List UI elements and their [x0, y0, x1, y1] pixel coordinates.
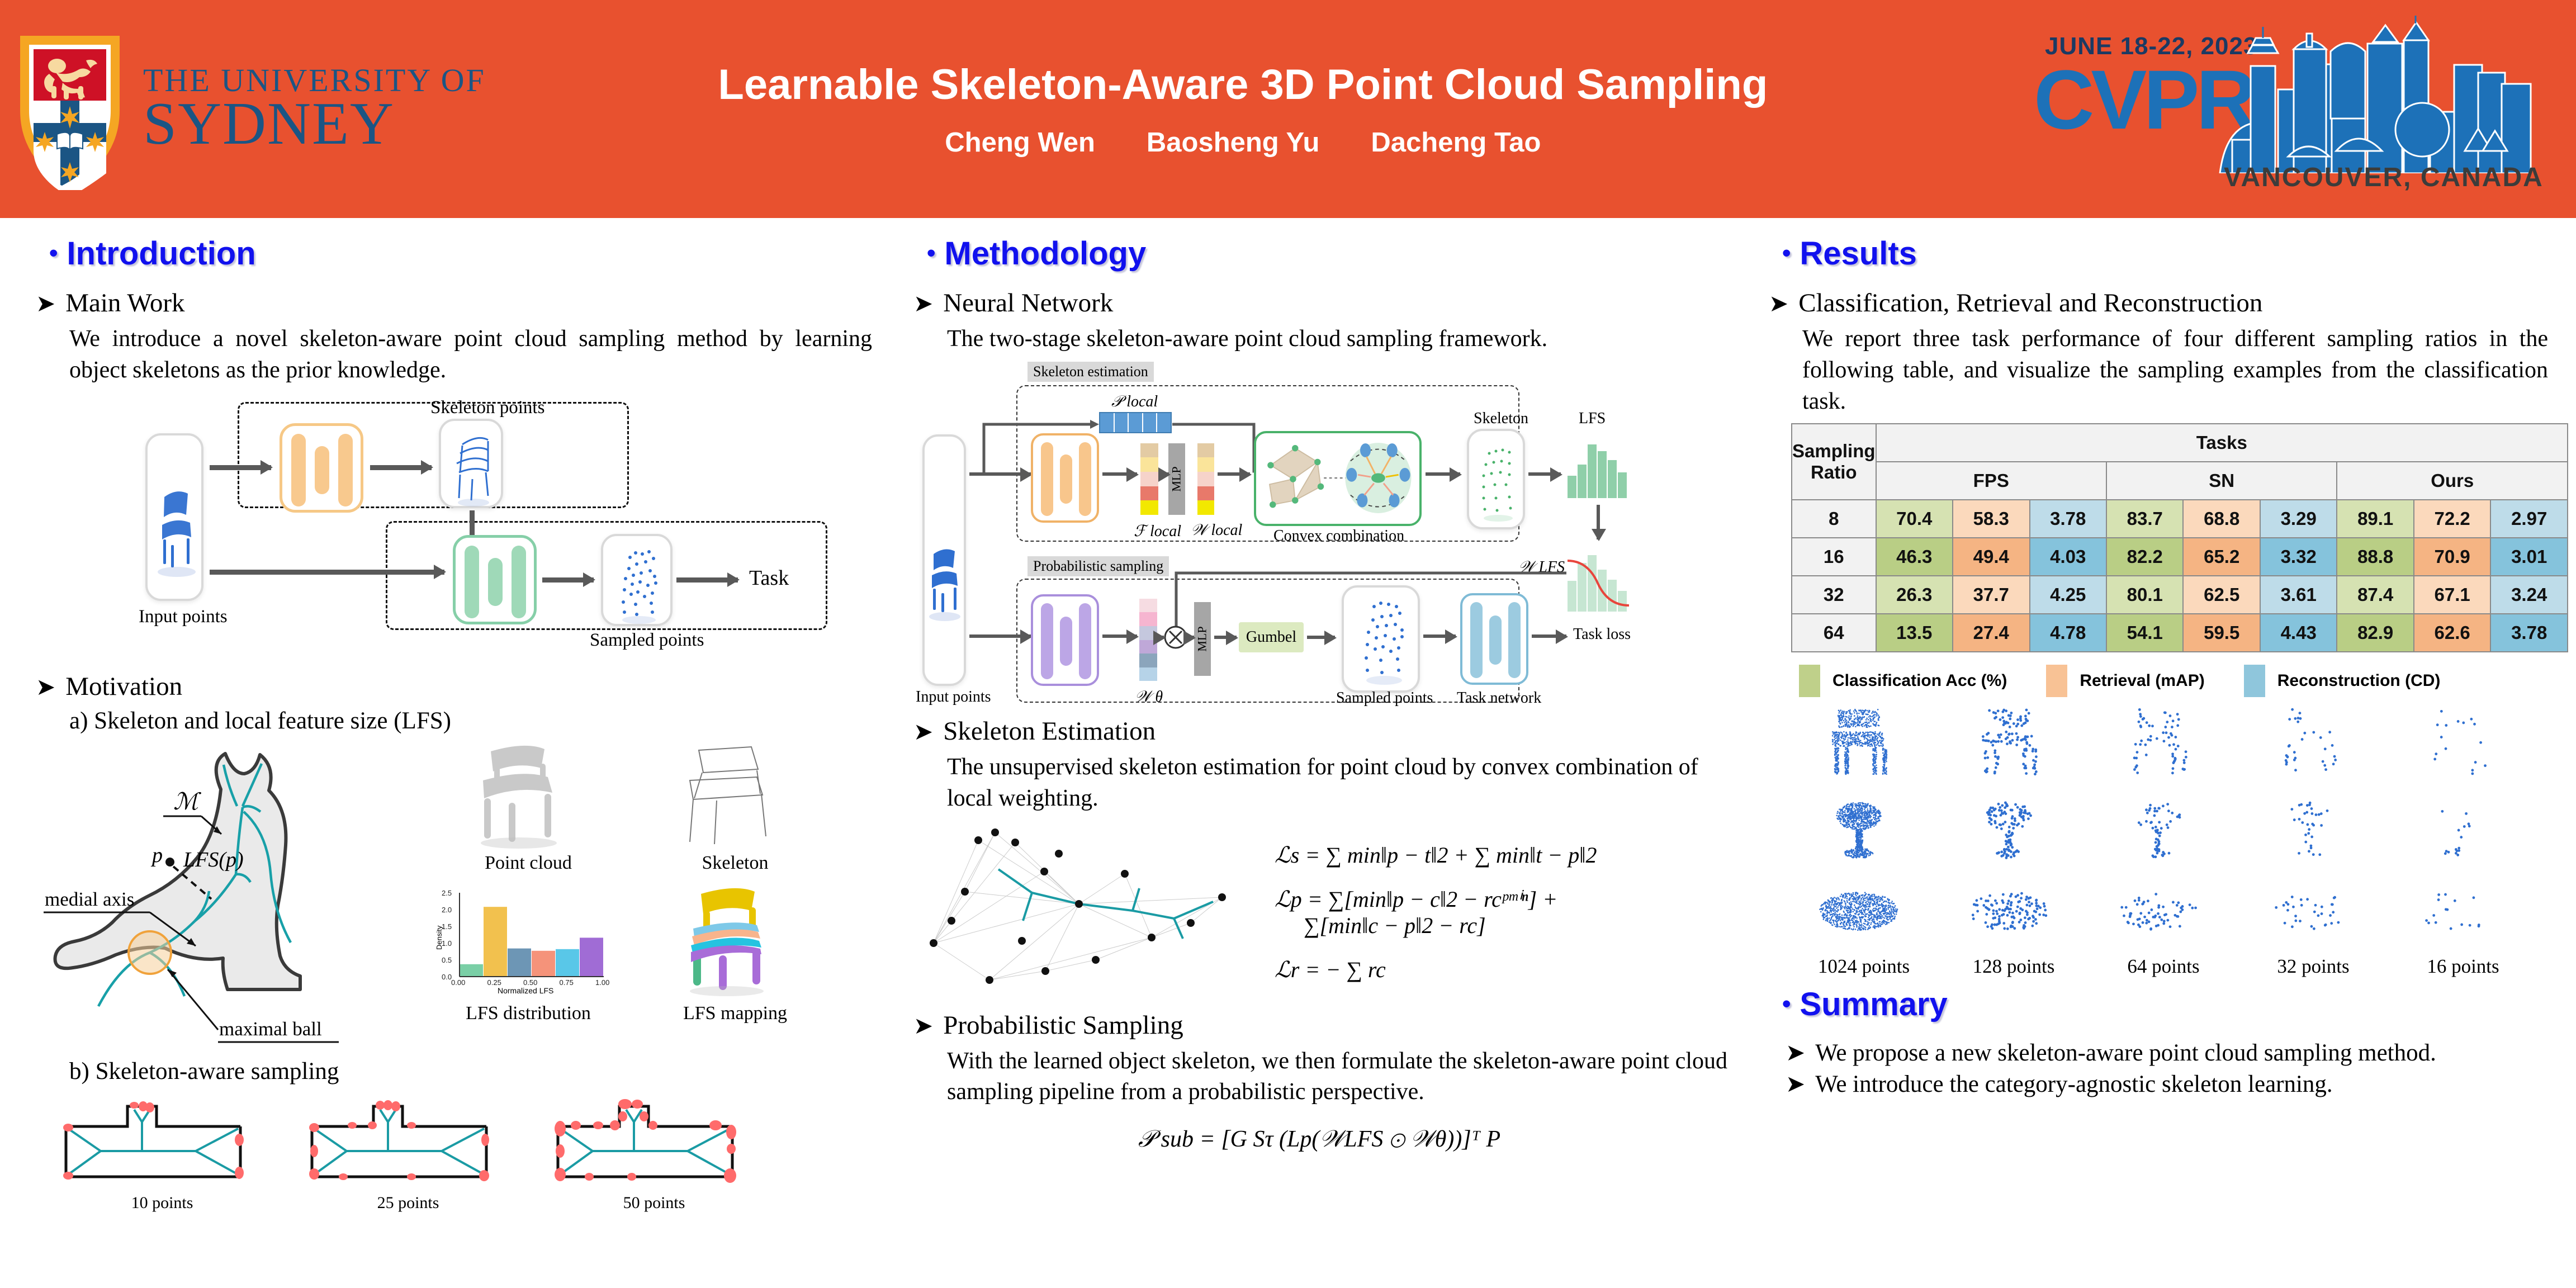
- point: [1849, 915, 1850, 916]
- point: [1862, 709, 1863, 711]
- point: [1881, 734, 1883, 736]
- point: [1976, 910, 1979, 912]
- point: [2148, 724, 2151, 727]
- point: [1881, 899, 1883, 901]
- lfs-mapping-caption: LFS mapping: [632, 1003, 839, 1024]
- point: [1854, 909, 1855, 911]
- point: [2329, 914, 2332, 917]
- point: [2007, 839, 2010, 841]
- point: [1844, 852, 1846, 854]
- point: [1883, 901, 1884, 903]
- point: [1835, 749, 1836, 751]
- point: [1850, 901, 1852, 903]
- point: [1875, 742, 1877, 744]
- bullet-dot-icon: •: [49, 246, 58, 261]
- table-cell-sn: 3.32: [2260, 538, 2337, 576]
- point: [1887, 898, 1888, 900]
- point: [2034, 918, 2037, 921]
- point: [2134, 765, 2137, 768]
- point: [2440, 736, 2443, 738]
- point: [1831, 913, 1833, 915]
- arrow-bullet-icon: ➤: [36, 290, 55, 318]
- point: [1868, 911, 1870, 913]
- point: [1857, 808, 1859, 809]
- summary-bullet-1: ➤ We propose a new skeleton-aware point …: [1786, 1039, 2548, 1067]
- point: [1894, 906, 1896, 908]
- point: [1869, 896, 1871, 898]
- point: [1873, 712, 1875, 713]
- bullet-dot-icon: •: [1782, 997, 1791, 1011]
- point: [1866, 713, 1868, 715]
- point: [1859, 809, 1860, 811]
- point: [1864, 899, 1866, 901]
- point: [1836, 911, 1838, 912]
- point: [2010, 901, 2012, 904]
- point: [1852, 853, 1854, 855]
- point: [1873, 917, 1875, 918]
- point: [1839, 916, 1841, 917]
- point: [1865, 902, 1867, 903]
- point: [1894, 915, 1896, 917]
- point: [1986, 925, 1989, 928]
- point: [1984, 752, 1987, 755]
- point: [1850, 916, 1851, 917]
- point: [1858, 813, 1860, 815]
- point: [1856, 817, 1858, 818]
- point: [2006, 927, 2009, 930]
- point: [1858, 826, 1859, 828]
- point: [1855, 917, 1857, 918]
- point: [1854, 723, 1856, 725]
- point: [2015, 732, 2018, 735]
- point: [2337, 921, 2340, 924]
- point: [1884, 764, 1886, 765]
- point: [2023, 748, 2026, 751]
- point: [1823, 918, 1825, 920]
- point: [1856, 828, 1858, 830]
- point: [1858, 804, 1860, 806]
- input-chair-point-cloud: [148, 435, 203, 603]
- point: [2151, 854, 2154, 857]
- point: [1840, 718, 1841, 719]
- point: [1835, 902, 1837, 904]
- point: [2002, 822, 2005, 825]
- point: [1858, 851, 1860, 853]
- point: [1826, 906, 1828, 907]
- point: [1877, 743, 1878, 745]
- point: [1825, 908, 1826, 910]
- point: [1835, 920, 1836, 921]
- point: [2135, 756, 2138, 759]
- skeleton-graph-illustration: [911, 820, 1269, 1005]
- point: [1856, 902, 1858, 904]
- point: [2158, 834, 2161, 837]
- point: [1867, 722, 1868, 724]
- arrow-input-to-skeleton-net: [210, 465, 271, 470]
- point: [2020, 738, 2023, 741]
- svg-text:0.0: 0.0: [442, 973, 452, 981]
- point: [1850, 922, 1851, 924]
- column-introduction: • Introduction ➤ Main Work We introduce …: [0, 218, 894, 1288]
- point: [2034, 748, 2037, 751]
- w-theta-label: 𝒲 θ: [1135, 688, 1163, 706]
- point: [1863, 909, 1864, 911]
- point: [2004, 850, 2006, 853]
- point: [1987, 732, 1990, 735]
- point: [1890, 920, 1892, 922]
- point: [1990, 822, 1993, 825]
- point: [1845, 903, 1846, 905]
- point: [2149, 807, 2152, 809]
- point: [1982, 735, 1985, 738]
- point: [1859, 850, 1860, 852]
- point: [1875, 813, 1877, 815]
- point: [1992, 739, 1995, 742]
- point: [1985, 913, 1988, 916]
- point: [1870, 725, 1872, 727]
- table-cell-fps: 13.5: [1876, 614, 1953, 652]
- point: [1853, 922, 1855, 924]
- point: [2023, 811, 2025, 814]
- point: [2139, 725, 2142, 728]
- point: [2176, 713, 2179, 716]
- point: [1831, 902, 1833, 903]
- point: [2000, 813, 2002, 816]
- point: [1859, 741, 1861, 743]
- point: [1848, 743, 1850, 745]
- point: [1845, 928, 1846, 930]
- point: [1847, 893, 1849, 894]
- point: [1872, 748, 1874, 750]
- point: [1849, 812, 1851, 814]
- point: [1873, 765, 1874, 766]
- point: [1845, 904, 1846, 906]
- point: [1891, 914, 1892, 916]
- table-method-fps: FPS: [1876, 462, 2106, 500]
- point: [1877, 737, 1879, 738]
- point: [2471, 769, 2474, 771]
- point: [1831, 899, 1832, 901]
- point: [1831, 907, 1832, 909]
- point: [1878, 733, 1880, 735]
- point: [1889, 918, 1891, 920]
- point: [1859, 745, 1861, 746]
- point: [2033, 910, 2036, 912]
- point: [1844, 913, 1846, 915]
- point: [2028, 917, 2031, 920]
- main-work-text: We introduce a novel skeleton-aware poin…: [69, 324, 872, 386]
- point: [2173, 759, 2176, 762]
- table-cell-sn: 65.2: [2183, 538, 2260, 576]
- point: [1985, 899, 1987, 902]
- point: [2017, 901, 2020, 903]
- point: [1862, 726, 1863, 727]
- point: [1975, 899, 1978, 902]
- point: [1855, 853, 1857, 854]
- results-heading-label: Results: [1800, 235, 1917, 272]
- point: [1878, 812, 1880, 813]
- point: [1839, 732, 1840, 733]
- lfs-histogram-icon: [1565, 438, 1632, 499]
- point: [1851, 812, 1853, 814]
- point: [1860, 834, 1862, 836]
- point: [1864, 926, 1865, 927]
- point: [1874, 897, 1876, 898]
- point: [1860, 909, 1862, 911]
- point: [1887, 919, 1889, 921]
- point: [2145, 921, 2148, 924]
- point: [1853, 924, 1854, 926]
- point: [1864, 710, 1865, 712]
- point: [1881, 742, 1882, 744]
- point: [1840, 745, 1841, 747]
- point: [1873, 736, 1874, 738]
- point: [1861, 805, 1863, 807]
- point: [1846, 811, 1848, 813]
- arrow-to-sampler-encoder: [969, 634, 1031, 638]
- point: [1845, 713, 1847, 714]
- point: [1834, 904, 1835, 906]
- point: [2035, 899, 2038, 902]
- point: [1857, 841, 1858, 843]
- point: [1857, 805, 1858, 807]
- point: [1868, 740, 1870, 741]
- point: [1844, 741, 1846, 743]
- point: [1863, 736, 1864, 737]
- point: [1855, 899, 1857, 901]
- point: [2162, 731, 2165, 734]
- point: [1868, 724, 1869, 726]
- point: [1988, 709, 1991, 712]
- point: [1835, 751, 1836, 753]
- table-header-row-2: FPS SN Ours: [1792, 462, 2568, 500]
- point: [1843, 911, 1845, 913]
- cat-lfs-p-label: LFS(p): [183, 848, 244, 872]
- point: [1893, 902, 1895, 904]
- chair-dense-1024: [1789, 700, 1929, 784]
- point: [1849, 719, 1850, 721]
- point: [2153, 814, 2156, 817]
- point: [1862, 908, 1863, 910]
- point: [1845, 807, 1847, 809]
- point: [1830, 913, 1831, 915]
- author-1: Cheng Wen: [945, 127, 1095, 158]
- point: [1841, 917, 1843, 919]
- point: [1864, 897, 1866, 899]
- point: [1873, 821, 1874, 823]
- point: [2016, 738, 2019, 741]
- point: [1849, 927, 1851, 929]
- point: [1846, 724, 1848, 726]
- point: [1872, 773, 1874, 775]
- point: [1886, 908, 1887, 910]
- table-cell-ratio: 32: [1792, 576, 1876, 614]
- point: [1876, 906, 1877, 907]
- point: [1861, 911, 1863, 913]
- point: [2008, 826, 2011, 828]
- point: [1837, 750, 1839, 752]
- point: [1886, 754, 1888, 756]
- point: [1867, 733, 1869, 735]
- table-cell-fps: 4.25: [2030, 576, 2106, 614]
- arrow-input-to-sampler: [210, 570, 444, 575]
- point: [2007, 830, 2010, 833]
- point: [1862, 745, 1863, 747]
- point: [1869, 919, 1871, 921]
- point: [2177, 901, 2180, 904]
- point: [1838, 770, 1840, 772]
- point: [1871, 712, 1873, 714]
- point: [2149, 738, 2152, 741]
- point: [1859, 722, 1860, 723]
- point: [2140, 739, 2143, 742]
- point: [2043, 905, 2046, 907]
- point: [2166, 803, 2169, 806]
- point: [1871, 740, 1872, 742]
- point: [1889, 916, 1891, 917]
- point: [1859, 929, 1861, 931]
- point: [1857, 850, 1859, 851]
- point: [2318, 853, 2321, 856]
- task-network-box: [1460, 593, 1528, 685]
- point: [2024, 925, 2026, 928]
- point: [2162, 804, 2165, 807]
- point: [1888, 905, 1890, 906]
- point: [1835, 735, 1836, 736]
- point: [1864, 735, 1865, 736]
- point: [1846, 910, 1848, 912]
- cvpr-logo: JUNE 18-22, 2023 CVPR: [2000, 0, 2570, 218]
- point: [1855, 848, 1857, 850]
- point: [1865, 908, 1867, 910]
- legend-label-classification: Classification Acc (%): [1832, 671, 2007, 690]
- point: [1851, 928, 1853, 930]
- point: [1856, 917, 1858, 919]
- point: [1848, 850, 1849, 852]
- point: [2313, 910, 2316, 913]
- cat-manifold-label: ℳ: [173, 789, 202, 815]
- lamp-dense-1024: [1789, 787, 1929, 868]
- hist-bar: [508, 948, 531, 976]
- point: [1854, 811, 1856, 812]
- point: [1990, 925, 1993, 927]
- point: [2002, 901, 2005, 904]
- point: [1867, 913, 1868, 915]
- point: [2149, 821, 2152, 824]
- svg-text:0.25: 0.25: [487, 978, 501, 987]
- point: [1874, 756, 1876, 758]
- point: [1838, 712, 1840, 714]
- point: [1863, 855, 1865, 856]
- point: [1868, 719, 1869, 721]
- point: [1843, 745, 1844, 747]
- point: [1848, 757, 1849, 759]
- point: [1836, 918, 1838, 920]
- point: [1868, 927, 1869, 929]
- point: [2324, 747, 2327, 750]
- point: [1872, 893, 1873, 895]
- point: [1869, 744, 1871, 745]
- point: [1869, 910, 1871, 911]
- point: [2177, 745, 2180, 747]
- point: [2044, 914, 2047, 917]
- point: [1834, 924, 1835, 925]
- legend-label-reconstruction: Reconstruction (CD): [2277, 671, 2441, 690]
- point: [1851, 919, 1853, 921]
- point: [1865, 735, 1867, 736]
- point: [1853, 813, 1855, 815]
- point: [2011, 911, 2014, 914]
- point: [1843, 924, 1844, 925]
- point: [1883, 913, 1885, 915]
- point: [1861, 848, 1863, 850]
- point: [1873, 918, 1874, 920]
- point: [2005, 847, 2008, 850]
- point: [2315, 813, 2318, 816]
- point: [1834, 909, 1836, 911]
- p-local-label: 𝒫 local: [1111, 393, 1158, 411]
- point: [1874, 765, 1876, 767]
- point: [1895, 908, 1897, 910]
- point: [1838, 920, 1839, 921]
- point: [1858, 717, 1859, 719]
- point: [1856, 851, 1858, 853]
- point: [1859, 856, 1860, 858]
- point: [2016, 894, 2019, 897]
- point: [2025, 741, 2028, 744]
- point: [1833, 907, 1835, 908]
- point: [2304, 840, 2307, 843]
- point: [2024, 755, 2026, 757]
- point: [1873, 900, 1875, 902]
- point: [1851, 817, 1853, 819]
- convex-combination-box: [1254, 431, 1422, 526]
- point: [1835, 744, 1836, 745]
- point: [2171, 726, 2173, 728]
- point: [1864, 920, 1866, 922]
- point: [2127, 921, 2129, 924]
- point: [1868, 917, 1869, 918]
- point: [1858, 719, 1859, 721]
- point: [2018, 921, 2021, 924]
- point: [1853, 819, 1855, 821]
- point: [1867, 924, 1869, 925]
- arrow-wlocal-to-convex: [1218, 472, 1250, 476]
- point: [1859, 815, 1860, 816]
- point: [2320, 812, 2323, 815]
- point: [1855, 731, 1857, 733]
- point: [1860, 719, 1862, 721]
- point: [1875, 815, 1877, 817]
- point: [1872, 718, 1874, 719]
- point: [1845, 773, 1846, 774]
- point: [1858, 896, 1859, 898]
- skeleton-estimation-text: The unsupervised skeleton estimation for…: [947, 752, 1727, 815]
- point: [2288, 718, 2291, 721]
- point: [1827, 899, 1829, 901]
- point: [2148, 911, 2151, 914]
- point: [2145, 808, 2148, 811]
- point: [1827, 920, 1829, 922]
- point: [1846, 770, 1848, 772]
- point: [2435, 921, 2437, 924]
- point: [1864, 894, 1866, 896]
- sampled-chair-point-cloud: [603, 536, 675, 628]
- point: [1871, 816, 1872, 817]
- point: [2006, 902, 2009, 905]
- point: [1848, 737, 1849, 738]
- arrow-bullet-icon: ➤: [1786, 1070, 1805, 1098]
